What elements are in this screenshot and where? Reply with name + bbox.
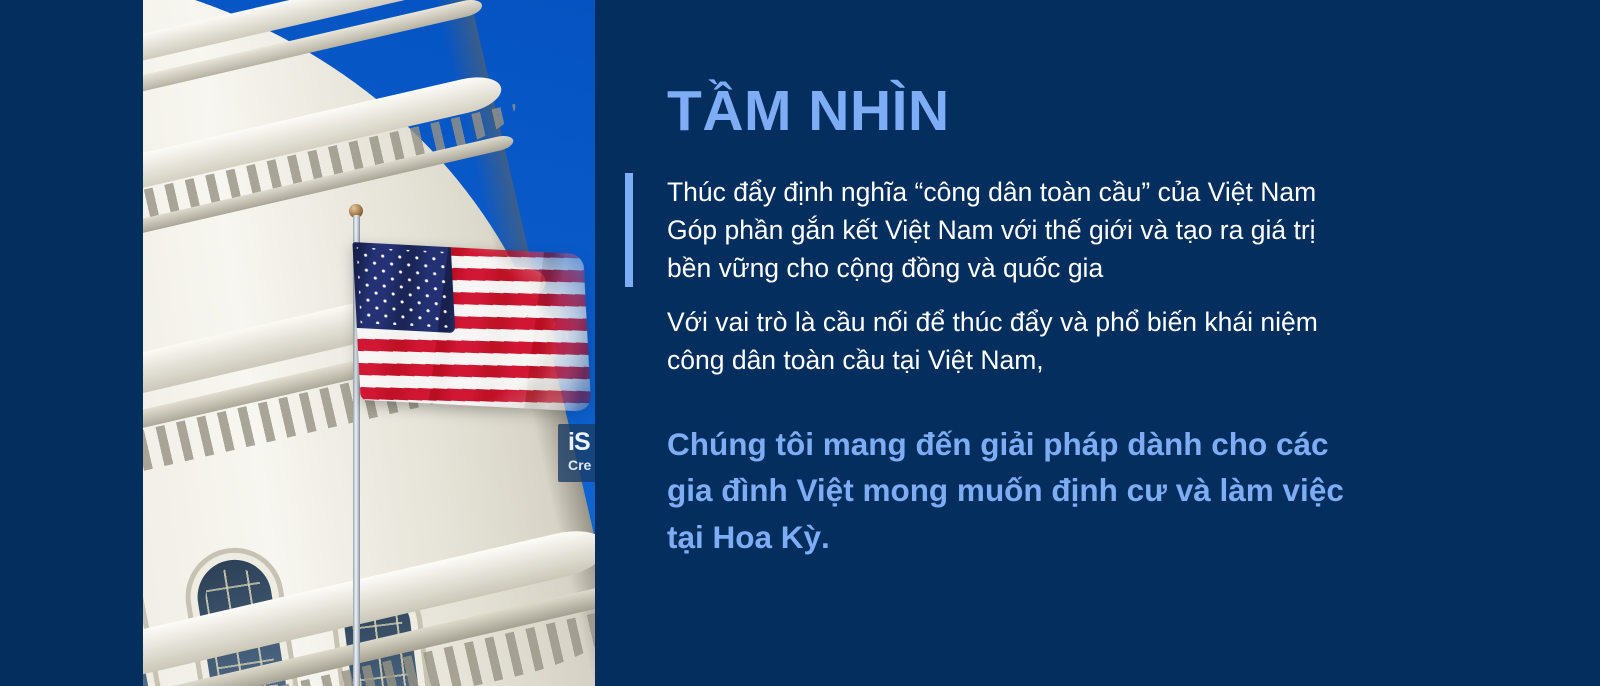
- page-title: TẦM NHÌN: [667, 82, 950, 142]
- watermark-credit: Cre: [568, 457, 591, 473]
- istock-watermark: iS Cre: [558, 424, 595, 482]
- text-column: TẦM NHÌN Thúc đẩy định nghĩa “công dân t…: [625, 0, 1385, 686]
- vision-quote-block: Thúc đẩy định nghĩa “công dân toàn cầu” …: [625, 173, 1347, 287]
- vision-slide: iS Cre TẦM NHÌN Thúc đẩy định nghĩa “côn…: [0, 0, 1600, 686]
- accent-bar: [625, 173, 633, 287]
- flag-wave-shading: [352, 242, 591, 412]
- vision-highlight-statement: Chúng tôi mang đến giải pháp dành cho cá…: [667, 421, 1357, 560]
- american-flag-icon: [352, 242, 591, 412]
- vision-paragraph: Với vai trò là cầu nối để thúc đẩy và ph…: [667, 303, 1343, 379]
- vision-quote-text: Thúc đẩy định nghĩa “công dân toàn cầu” …: [667, 173, 1347, 287]
- capitol-photo: iS Cre: [143, 0, 595, 686]
- watermark-brand: iS: [568, 428, 590, 457]
